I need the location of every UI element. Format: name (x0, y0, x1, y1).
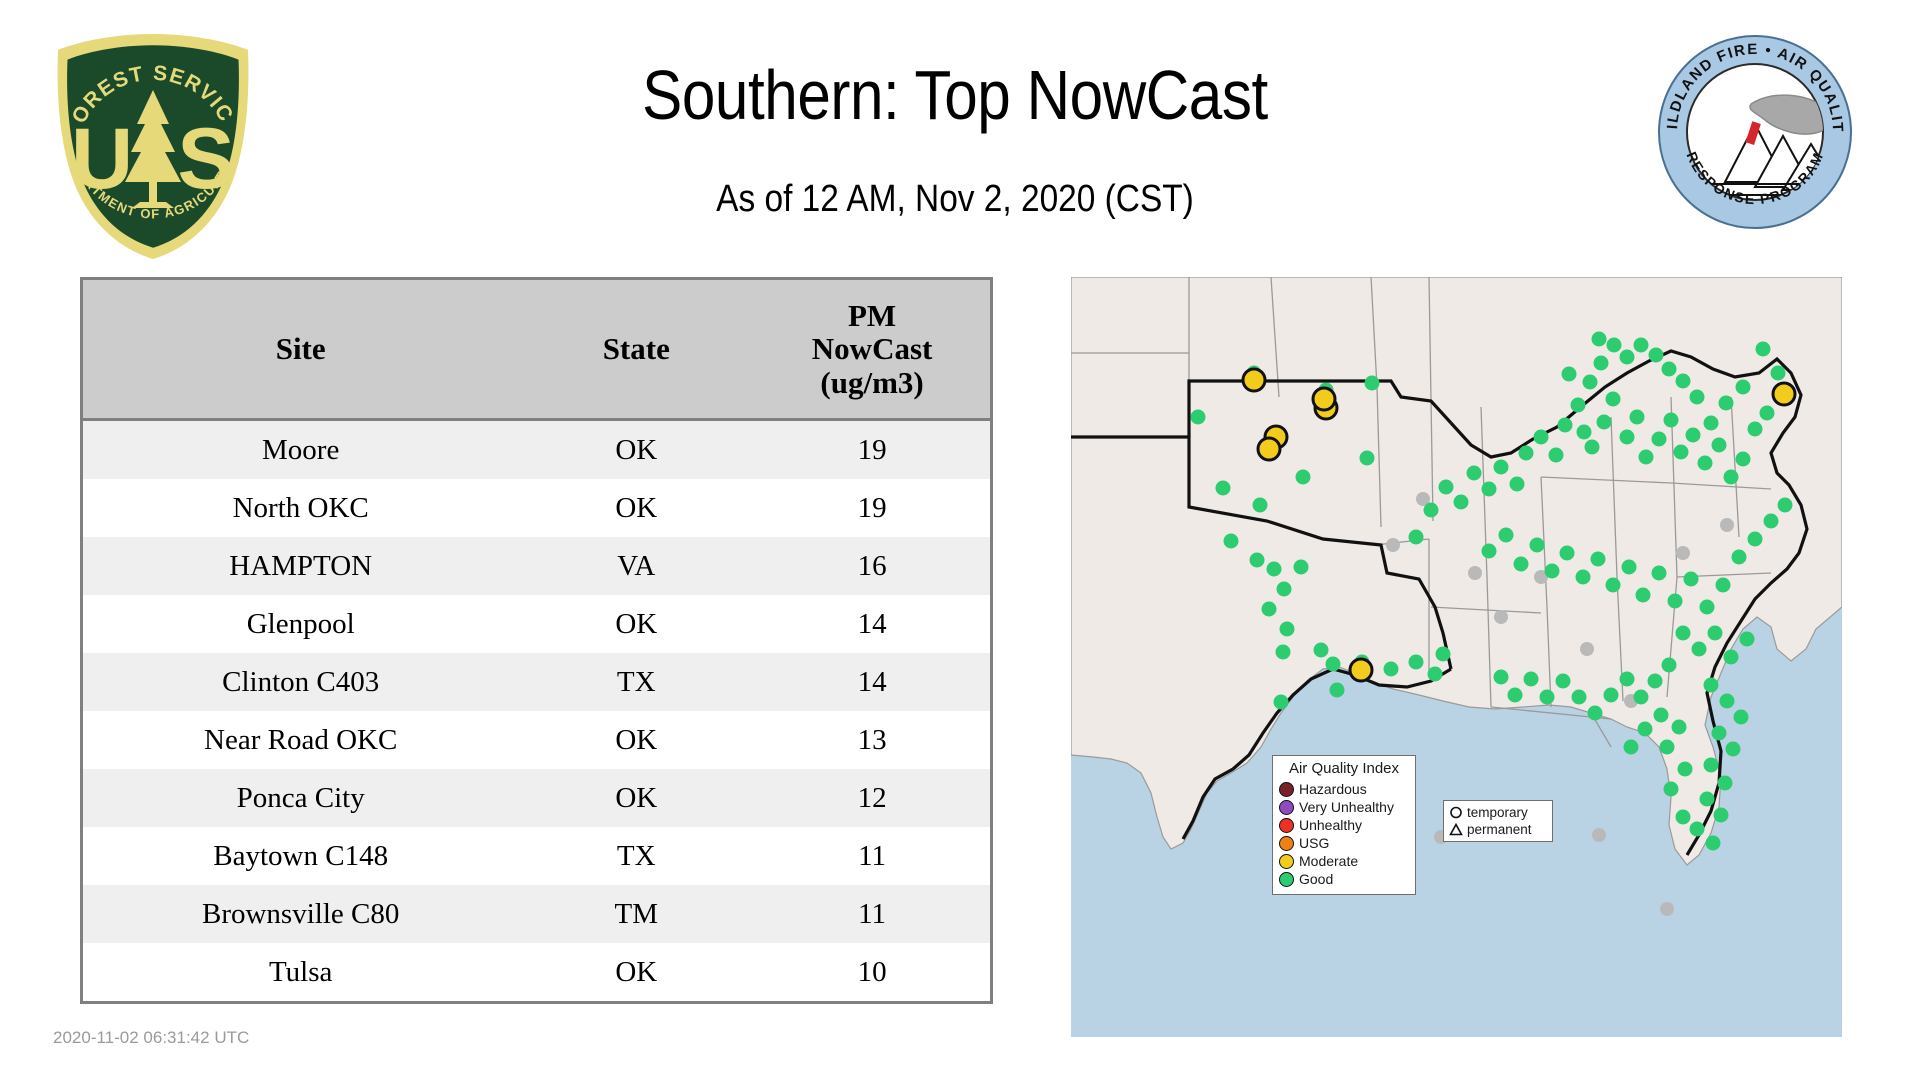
station-marker-good[interactable] (1494, 460, 1509, 475)
station-marker-good[interactable] (1424, 503, 1439, 518)
station-marker-good[interactable] (1778, 498, 1793, 513)
station-marker-good[interactable] (1585, 440, 1600, 455)
station-marker-moderate[interactable] (1258, 438, 1280, 460)
nowcast-table: Site State PM NowCast (ug/m3) MooreOK19N… (83, 280, 990, 1001)
station-marker-good[interactable] (1224, 534, 1239, 549)
station-marker-good[interactable] (1660, 740, 1675, 755)
table-row: GlenpoolOK14 (83, 595, 990, 653)
station-marker-good[interactable] (1698, 456, 1713, 471)
station-marker-good[interactable] (1250, 553, 1265, 568)
station-marker-good[interactable] (1267, 562, 1282, 577)
station-marker-good[interactable] (1686, 428, 1701, 443)
station-marker-good[interactable] (1360, 451, 1375, 466)
station-marker-good[interactable] (1508, 688, 1523, 703)
site-cell: Ponca City (83, 769, 518, 827)
station-marker-good[interactable] (1606, 578, 1621, 593)
station-marker-good[interactable] (1760, 406, 1775, 421)
table-header-row: Site State PM NowCast (ug/m3) (83, 280, 990, 420)
column-header-pm-nowcast: PM NowCast (ug/m3) (754, 280, 990, 420)
pm-value-cell: 10 (754, 943, 990, 1001)
pm-value-cell: 11 (754, 885, 990, 943)
station-marker-good[interactable] (1664, 782, 1679, 797)
station-marker-good[interactable] (1262, 602, 1277, 617)
station-marker-good[interactable] (1620, 430, 1635, 445)
pm-value-cell: 19 (754, 479, 990, 537)
pm-value-cell: 16 (754, 537, 990, 595)
pm-value-cell: 19 (754, 420, 990, 480)
station-marker-good[interactable] (1662, 362, 1677, 377)
station-marker-good[interactable] (1648, 674, 1663, 689)
station-marker-good[interactable] (1519, 446, 1534, 461)
state-cell: TX (518, 653, 754, 711)
station-marker-good[interactable] (1534, 430, 1549, 445)
triangle-marker-icon (1449, 822, 1463, 837)
aqi-legend-label: Unhealthy (1299, 818, 1362, 832)
station-marker-good[interactable] (1622, 560, 1637, 575)
station-marker-good[interactable] (1514, 557, 1529, 572)
aqi-legend-title: Air Quality Index (1279, 760, 1409, 777)
station-marker-good[interactable] (1577, 425, 1592, 440)
state-cell: OK (518, 479, 754, 537)
station-marker-good[interactable] (1690, 822, 1705, 837)
wfaqrp-logo: WILDLAND FIRE • AIR QUALITY RESPONSE PRO… (1655, 32, 1855, 232)
station-marker-good[interactable] (1726, 742, 1741, 757)
pm-header-line-2: NowCast (812, 331, 933, 366)
station-marker-good[interactable] (1277, 582, 1292, 597)
station-marker-good[interactable] (1668, 594, 1683, 609)
station-marker-good[interactable] (1607, 338, 1622, 353)
aqi-color-swatch-icon (1279, 836, 1294, 851)
station-marker-good[interactable] (1439, 480, 1454, 495)
station-marker-good[interactable] (1330, 683, 1345, 698)
aqi-legend-row: Hazardous (1279, 780, 1409, 798)
station-marker-good[interactable] (1649, 348, 1664, 363)
state-cell: OK (518, 711, 754, 769)
station-marker-good[interactable] (1594, 356, 1609, 371)
state-cell: TX (518, 827, 754, 885)
station-marker-good[interactable] (1572, 690, 1587, 705)
column-header-state: State (518, 280, 754, 420)
aqi-legend-label: Hazardous (1299, 782, 1367, 796)
station-marker-good[interactable] (1634, 690, 1649, 705)
pm-value-cell: 13 (754, 711, 990, 769)
station-marker-good[interactable] (1428, 667, 1443, 682)
station-marker-good[interactable] (1620, 350, 1635, 365)
station-marker-good[interactable] (1571, 398, 1586, 413)
station-marker-good[interactable] (1719, 396, 1734, 411)
station-marker-good[interactable] (1771, 366, 1786, 381)
station-marker-good[interactable] (1732, 550, 1747, 565)
station-marker-good[interactable] (1704, 416, 1719, 431)
station-marker-good[interactable] (1454, 495, 1469, 510)
station-marker-good[interactable] (1545, 564, 1560, 579)
aqi-color-swatch-icon (1279, 818, 1294, 833)
station-marker-good[interactable] (1652, 566, 1667, 581)
site-cell: Brownsville C80 (83, 885, 518, 943)
state-cell: OK (518, 943, 754, 1001)
station-marker-good[interactable] (1714, 808, 1729, 823)
station-marker-good[interactable] (1530, 538, 1545, 553)
station-marker-good[interactable] (1718, 776, 1733, 791)
station-marker-good[interactable] (1314, 643, 1329, 658)
station-marker-good[interactable] (1676, 626, 1691, 641)
station-marker-good[interactable] (1748, 422, 1763, 437)
station-marker-good[interactable] (1708, 626, 1723, 641)
station-marker-good[interactable] (1560, 546, 1575, 561)
aqi-legend-row: Good (1279, 870, 1409, 888)
station-marker-good[interactable] (1636, 588, 1651, 603)
station-marker-good[interactable] (1672, 720, 1687, 735)
station-marker-moderate[interactable] (1243, 369, 1265, 391)
station-marker-good[interactable] (1467, 466, 1482, 481)
station-marker-good[interactable] (1384, 662, 1399, 677)
site-cell: Moore (83, 420, 518, 480)
station-marker-good[interactable] (1482, 544, 1497, 559)
station-marker-good[interactable] (1638, 722, 1653, 737)
aqi-legend-label: Very Unhealthy (1299, 800, 1394, 814)
station-marker-good[interactable] (1604, 688, 1619, 703)
pm-header-line-3: (ug/m3) (820, 365, 923, 400)
table-body: MooreOK19North OKCOK19HAMPTONVA16Glenpoo… (83, 420, 990, 1002)
station-marker-good[interactable] (1764, 514, 1779, 529)
pm-header-line-1: PM (848, 298, 896, 333)
station-marker-good[interactable] (1712, 726, 1727, 741)
station-marker-good[interactable] (1276, 645, 1291, 660)
station-marker-good[interactable] (1704, 758, 1719, 773)
circle-marker-icon (1449, 805, 1463, 820)
pm-value-cell: 11 (754, 827, 990, 885)
table-row: Baytown C148TX11 (83, 827, 990, 885)
state-cell: OK (518, 595, 754, 653)
station-marker-good[interactable] (1549, 448, 1564, 463)
station-marker-good[interactable] (1716, 578, 1731, 593)
station-marker-good[interactable] (1700, 600, 1715, 615)
pm-value-cell: 12 (754, 769, 990, 827)
station-marker-good[interactable] (1482, 482, 1497, 497)
station-marker-good[interactable] (1756, 342, 1771, 357)
station-marker-good[interactable] (1704, 678, 1719, 693)
site-cell: HAMPTON (83, 537, 518, 595)
table-header: Site State PM NowCast (ug/m3) (83, 280, 990, 420)
table-row: Ponca CityOK12 (83, 769, 990, 827)
aqi-color-swatch-icon (1279, 854, 1294, 869)
site-cell: Near Road OKC (83, 711, 518, 769)
table-row: Near Road OKCOK13 (83, 711, 990, 769)
fs-letter-s: S (177, 111, 234, 207)
station-marker-good[interactable] (1724, 470, 1739, 485)
station-marker-good[interactable] (1494, 670, 1509, 685)
state-cell: OK (518, 420, 754, 480)
aqi-legend: Air Quality Index HazardousVery Unhealth… (1272, 755, 1416, 895)
station-marker-good[interactable] (1556, 674, 1571, 689)
station-marker-good[interactable] (1676, 374, 1691, 389)
station-marker-good[interactable] (1678, 762, 1693, 777)
station-marker-good[interactable] (1652, 432, 1667, 447)
page-subtitle: As of 12 AM, Nov 2, 2020 (CST) (343, 178, 1566, 221)
station-marker-good[interactable] (1720, 694, 1735, 709)
station-marker-good[interactable] (1280, 622, 1295, 637)
station-marker-good[interactable] (1692, 642, 1707, 657)
forest-service-logo: FOREST SERVICE DEPARTMENT OF AGRICULTURE… (48, 28, 258, 263)
aqi-legend-label: Good (1299, 872, 1333, 886)
state-cell: TM (518, 885, 754, 943)
table-row: MooreOK19 (83, 420, 990, 480)
generation-timestamp: 2020-11-02 06:31:42 UTC (53, 1028, 249, 1048)
table-row: North OKCOK19 (83, 479, 990, 537)
station-marker-good[interactable] (1583, 375, 1598, 390)
state-cell: OK (518, 769, 754, 827)
station-marker-good[interactable] (1736, 452, 1751, 467)
pm-value-cell: 14 (754, 653, 990, 711)
station-marker-good[interactable] (1736, 380, 1751, 395)
nowcast-table-container: Site State PM NowCast (ug/m3) MooreOK19N… (80, 277, 993, 1004)
station-marker-good[interactable] (1562, 367, 1577, 382)
aqi-color-swatch-icon (1279, 782, 1294, 797)
station-marker-good[interactable] (1676, 810, 1691, 825)
site-cell: Glenpool (83, 595, 518, 653)
station-marker-good[interactable] (1365, 376, 1380, 391)
state-cell: VA (518, 537, 754, 595)
station-marker-good[interactable] (1624, 740, 1639, 755)
station-marker-moderate[interactable] (1350, 659, 1372, 681)
station-marker-good[interactable] (1592, 332, 1607, 347)
station-marker-good[interactable] (1253, 498, 1268, 513)
column-header-site: Site (83, 280, 518, 420)
station-marker-good[interactable] (1191, 410, 1206, 425)
aqi-legend-row: USG (1279, 834, 1409, 852)
table-row: HAMPTONVA16 (83, 537, 990, 595)
station-marker-good[interactable] (1630, 410, 1645, 425)
station-marker-good[interactable] (1294, 560, 1309, 575)
station-marker-good[interactable] (1524, 672, 1539, 687)
station-marker-good[interactable] (1748, 532, 1763, 547)
aqi-map[interactable] (1071, 277, 1842, 1037)
table-row: Clinton C403TX14 (83, 653, 990, 711)
station-marker-good[interactable] (1712, 438, 1727, 453)
symbol-legend: temporary permanent (1443, 800, 1553, 842)
fs-letter-u: U (71, 111, 133, 207)
station-marker-good[interactable] (1634, 338, 1649, 353)
station-marker-good[interactable] (1674, 445, 1689, 460)
station-marker-good[interactable] (1654, 708, 1669, 723)
symbol-legend-row-permanent: permanent (1449, 821, 1547, 838)
aqi-legend-row: Very Unhealthy (1279, 798, 1409, 816)
page-title: Southern: Top NowCast (357, 55, 1552, 135)
station-marker-good[interactable] (1606, 392, 1621, 407)
aqi-legend-label: USG (1299, 836, 1329, 850)
station-marker-good[interactable] (1662, 658, 1677, 673)
station-marker-good[interactable] (1724, 650, 1739, 665)
station-marker-good[interactable] (1274, 695, 1289, 710)
station-marker-good[interactable] (1740, 632, 1755, 647)
site-cell: Baytown C148 (83, 827, 518, 885)
aqi-legend-label: Moderate (1299, 854, 1358, 868)
station-marker-good[interactable] (1664, 413, 1679, 428)
station-marker-good[interactable] (1597, 415, 1612, 430)
station-marker-good[interactable] (1558, 418, 1573, 433)
station-marker-good[interactable] (1326, 657, 1341, 672)
station-marker-good[interactable] (1639, 450, 1654, 465)
station-marker-good[interactable] (1540, 690, 1555, 705)
pm-value-cell: 14 (754, 595, 990, 653)
table-row: TulsaOK10 (83, 943, 990, 1001)
station-marker-moderate[interactable] (1773, 383, 1795, 405)
station-marker-good[interactable] (1591, 552, 1606, 567)
aqi-legend-row: Moderate (1279, 852, 1409, 870)
symbol-legend-row-temporary: temporary (1449, 804, 1547, 821)
station-marker-good[interactable] (1436, 647, 1451, 662)
station-marker-good[interactable] (1510, 477, 1525, 492)
table-row: Brownsville C80TM11 (83, 885, 990, 943)
symbol-legend-label-permanent: permanent (1467, 823, 1532, 837)
station-marker-good[interactable] (1706, 836, 1721, 851)
station-marker-good[interactable] (1734, 710, 1749, 725)
site-cell: Tulsa (83, 943, 518, 1001)
station-marker-good[interactable] (1216, 481, 1231, 496)
station-marker-moderate[interactable] (1313, 388, 1335, 410)
station-marker-good[interactable] (1620, 672, 1635, 687)
aqi-color-swatch-icon (1279, 872, 1294, 887)
site-cell: North OKC (83, 479, 518, 537)
station-marker-good[interactable] (1576, 570, 1591, 585)
aqi-color-swatch-icon (1279, 800, 1294, 815)
station-marker-good[interactable] (1690, 390, 1705, 405)
station-marker-good[interactable] (1296, 470, 1311, 485)
station-marker-good[interactable] (1499, 528, 1514, 543)
station-marker-good[interactable] (1588, 706, 1603, 721)
station-marker-good[interactable] (1684, 572, 1699, 587)
site-cell: Clinton C403 (83, 653, 518, 711)
station-marker-good[interactable] (1409, 530, 1424, 545)
station-marker-good[interactable] (1700, 792, 1715, 807)
symbol-legend-label-temporary: temporary (1467, 806, 1528, 820)
station-marker-good[interactable] (1409, 655, 1424, 670)
aqi-legend-row: Unhealthy (1279, 816, 1409, 834)
